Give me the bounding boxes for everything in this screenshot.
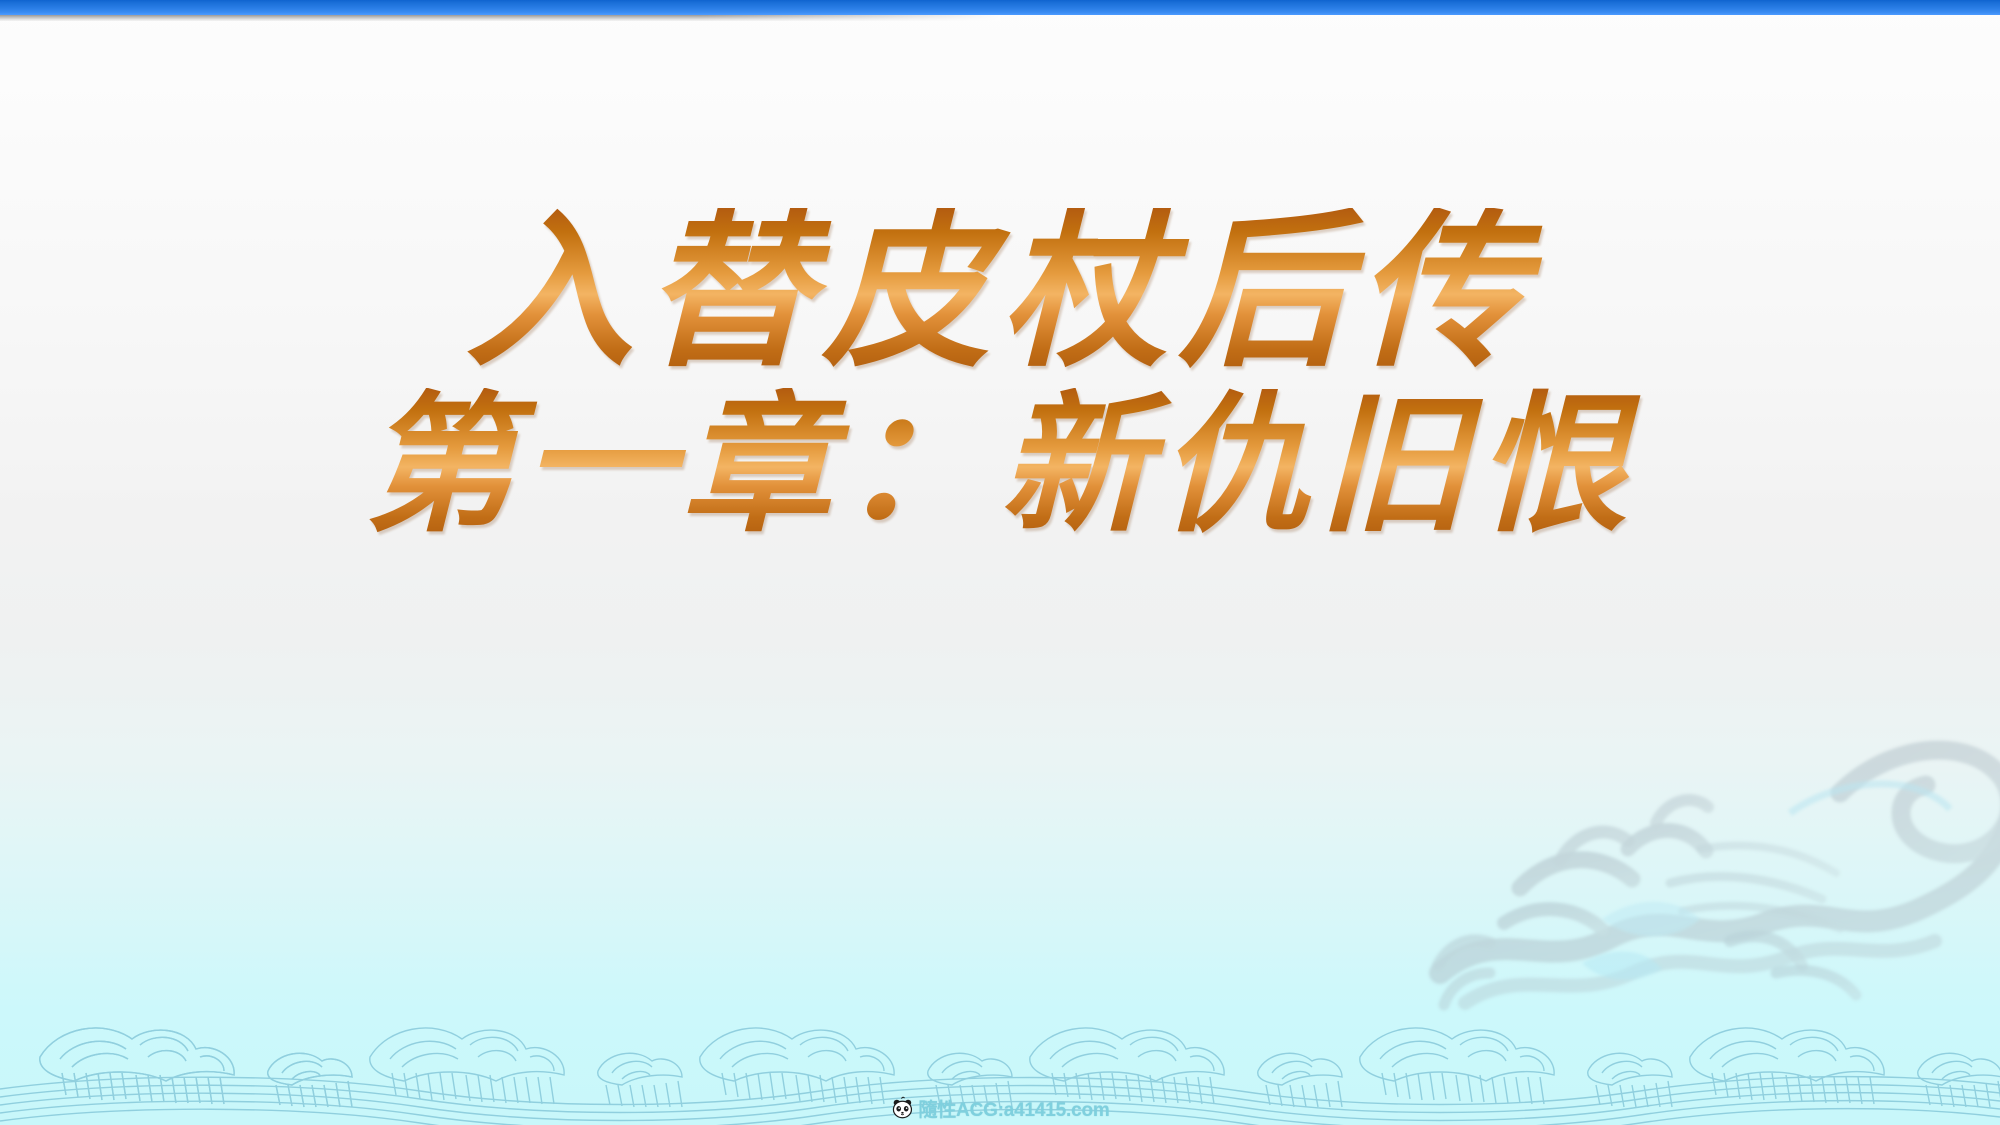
watermark-text: 隨性ACG:a41415.com: [918, 1095, 1109, 1122]
top-accent-bar: [0, 0, 2000, 15]
presentation-slide: 入替皮杖后传 第一章：新仇旧恨: [0, 0, 2000, 1125]
top-accent-bar-shadow-fade: [0, 15, 1000, 21]
watermark: 隨性ACG:a41415.com: [890, 1095, 1109, 1121]
slide-title-block: 入替皮杖后传 第一章：新仇旧恨: [0, 208, 2000, 546]
slide-subtitle-chapter: 第一章：新仇旧恨: [0, 388, 2000, 546]
panda-icon: [890, 1096, 914, 1120]
slide-title-main: 入替皮杖后传: [0, 208, 2000, 380]
